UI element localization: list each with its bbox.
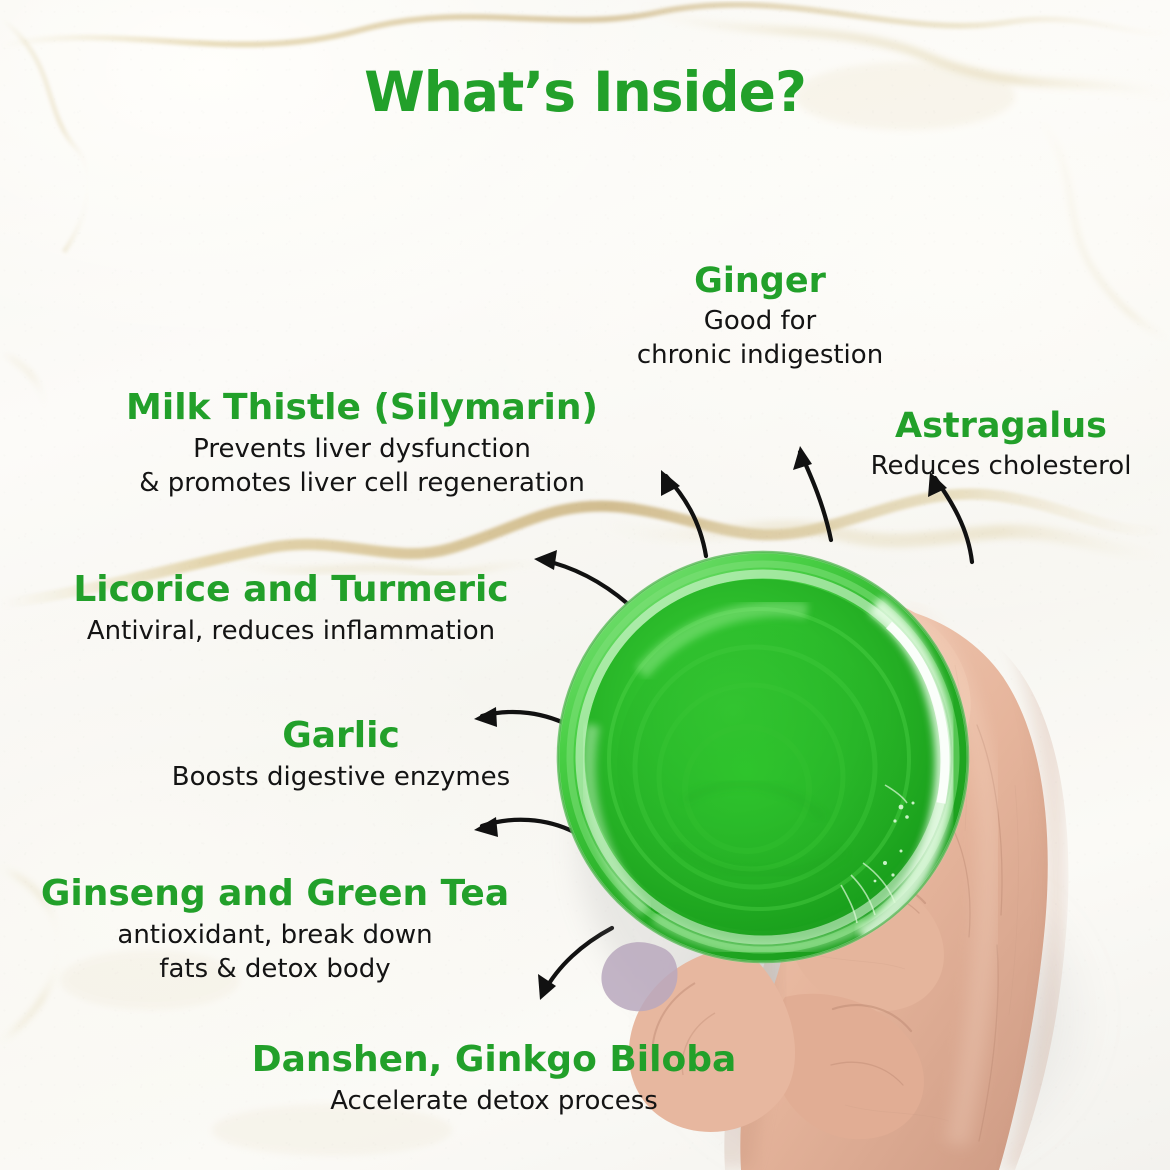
description-line: Prevents liver dysfunction — [74, 433, 650, 467]
ingredient-description: Prevents liver dysfunction & promotes li… — [74, 433, 650, 501]
ingredient-name: Danshen, Ginkgo Biloba — [204, 1040, 784, 1080]
ingredient-description: Good for chronic indigestion — [565, 305, 955, 373]
ingredient-name: Ginseng and Green Tea — [2, 874, 548, 914]
ingredient-ginseng-green-tea: Ginseng and Green Tea antioxidant, break… — [2, 874, 548, 987]
description-line: & promotes liver cell regeneration — [74, 467, 650, 501]
ingredient-description: Accelerate detox process — [204, 1085, 784, 1119]
ingredient-milk-thistle: Milk Thistle (Silymarin) Prevents liver … — [74, 388, 650, 501]
description-line: antioxidant, break down — [2, 919, 548, 953]
ingredient-description: Boosts digestive enzymes — [120, 761, 562, 795]
ingredient-garlic: Garlic Boosts digestive enzymes — [120, 716, 562, 795]
ingredient-name: Ginger — [565, 262, 955, 301]
page-title: What’s Inside? — [0, 60, 1170, 124]
ingredient-name: Milk Thistle (Silymarin) — [74, 388, 650, 428]
ingredient-description: antioxidant, break down fats & detox bod… — [2, 919, 548, 987]
ingredient-description: Reduces cholesterol — [828, 450, 1170, 484]
description-line: chronic indigestion — [565, 339, 955, 373]
ingredient-name: Licorice and Turmeric — [26, 570, 556, 610]
description-line: Boosts digestive enzymes — [120, 761, 562, 795]
glass-of-green-drink — [558, 552, 968, 962]
ingredient-description: Antiviral, reduces inflammation — [26, 615, 556, 649]
description-line: Reduces cholesterol — [828, 450, 1170, 484]
ingredient-licorice-turmeric: Licorice and Turmeric Antiviral, reduces… — [26, 570, 556, 649]
description-line: Antiviral, reduces inflammation — [26, 615, 556, 649]
poster-canvas: What’s Inside? — [0, 0, 1170, 1170]
ingredient-danshen-ginkgo: Danshen, Ginkgo Biloba Accelerate detox … — [204, 1040, 784, 1119]
ingredient-ginger: Ginger Good for chronic indigestion — [565, 262, 955, 373]
description-line: fats & detox body — [2, 953, 548, 987]
ingredient-name: Garlic — [120, 716, 562, 756]
description-line: Good for — [565, 305, 955, 339]
ingredient-astragalus: Astragalus Reduces cholesterol — [828, 407, 1170, 484]
ingredient-name: Astragalus — [828, 407, 1170, 446]
description-line: Accelerate detox process — [204, 1085, 784, 1119]
